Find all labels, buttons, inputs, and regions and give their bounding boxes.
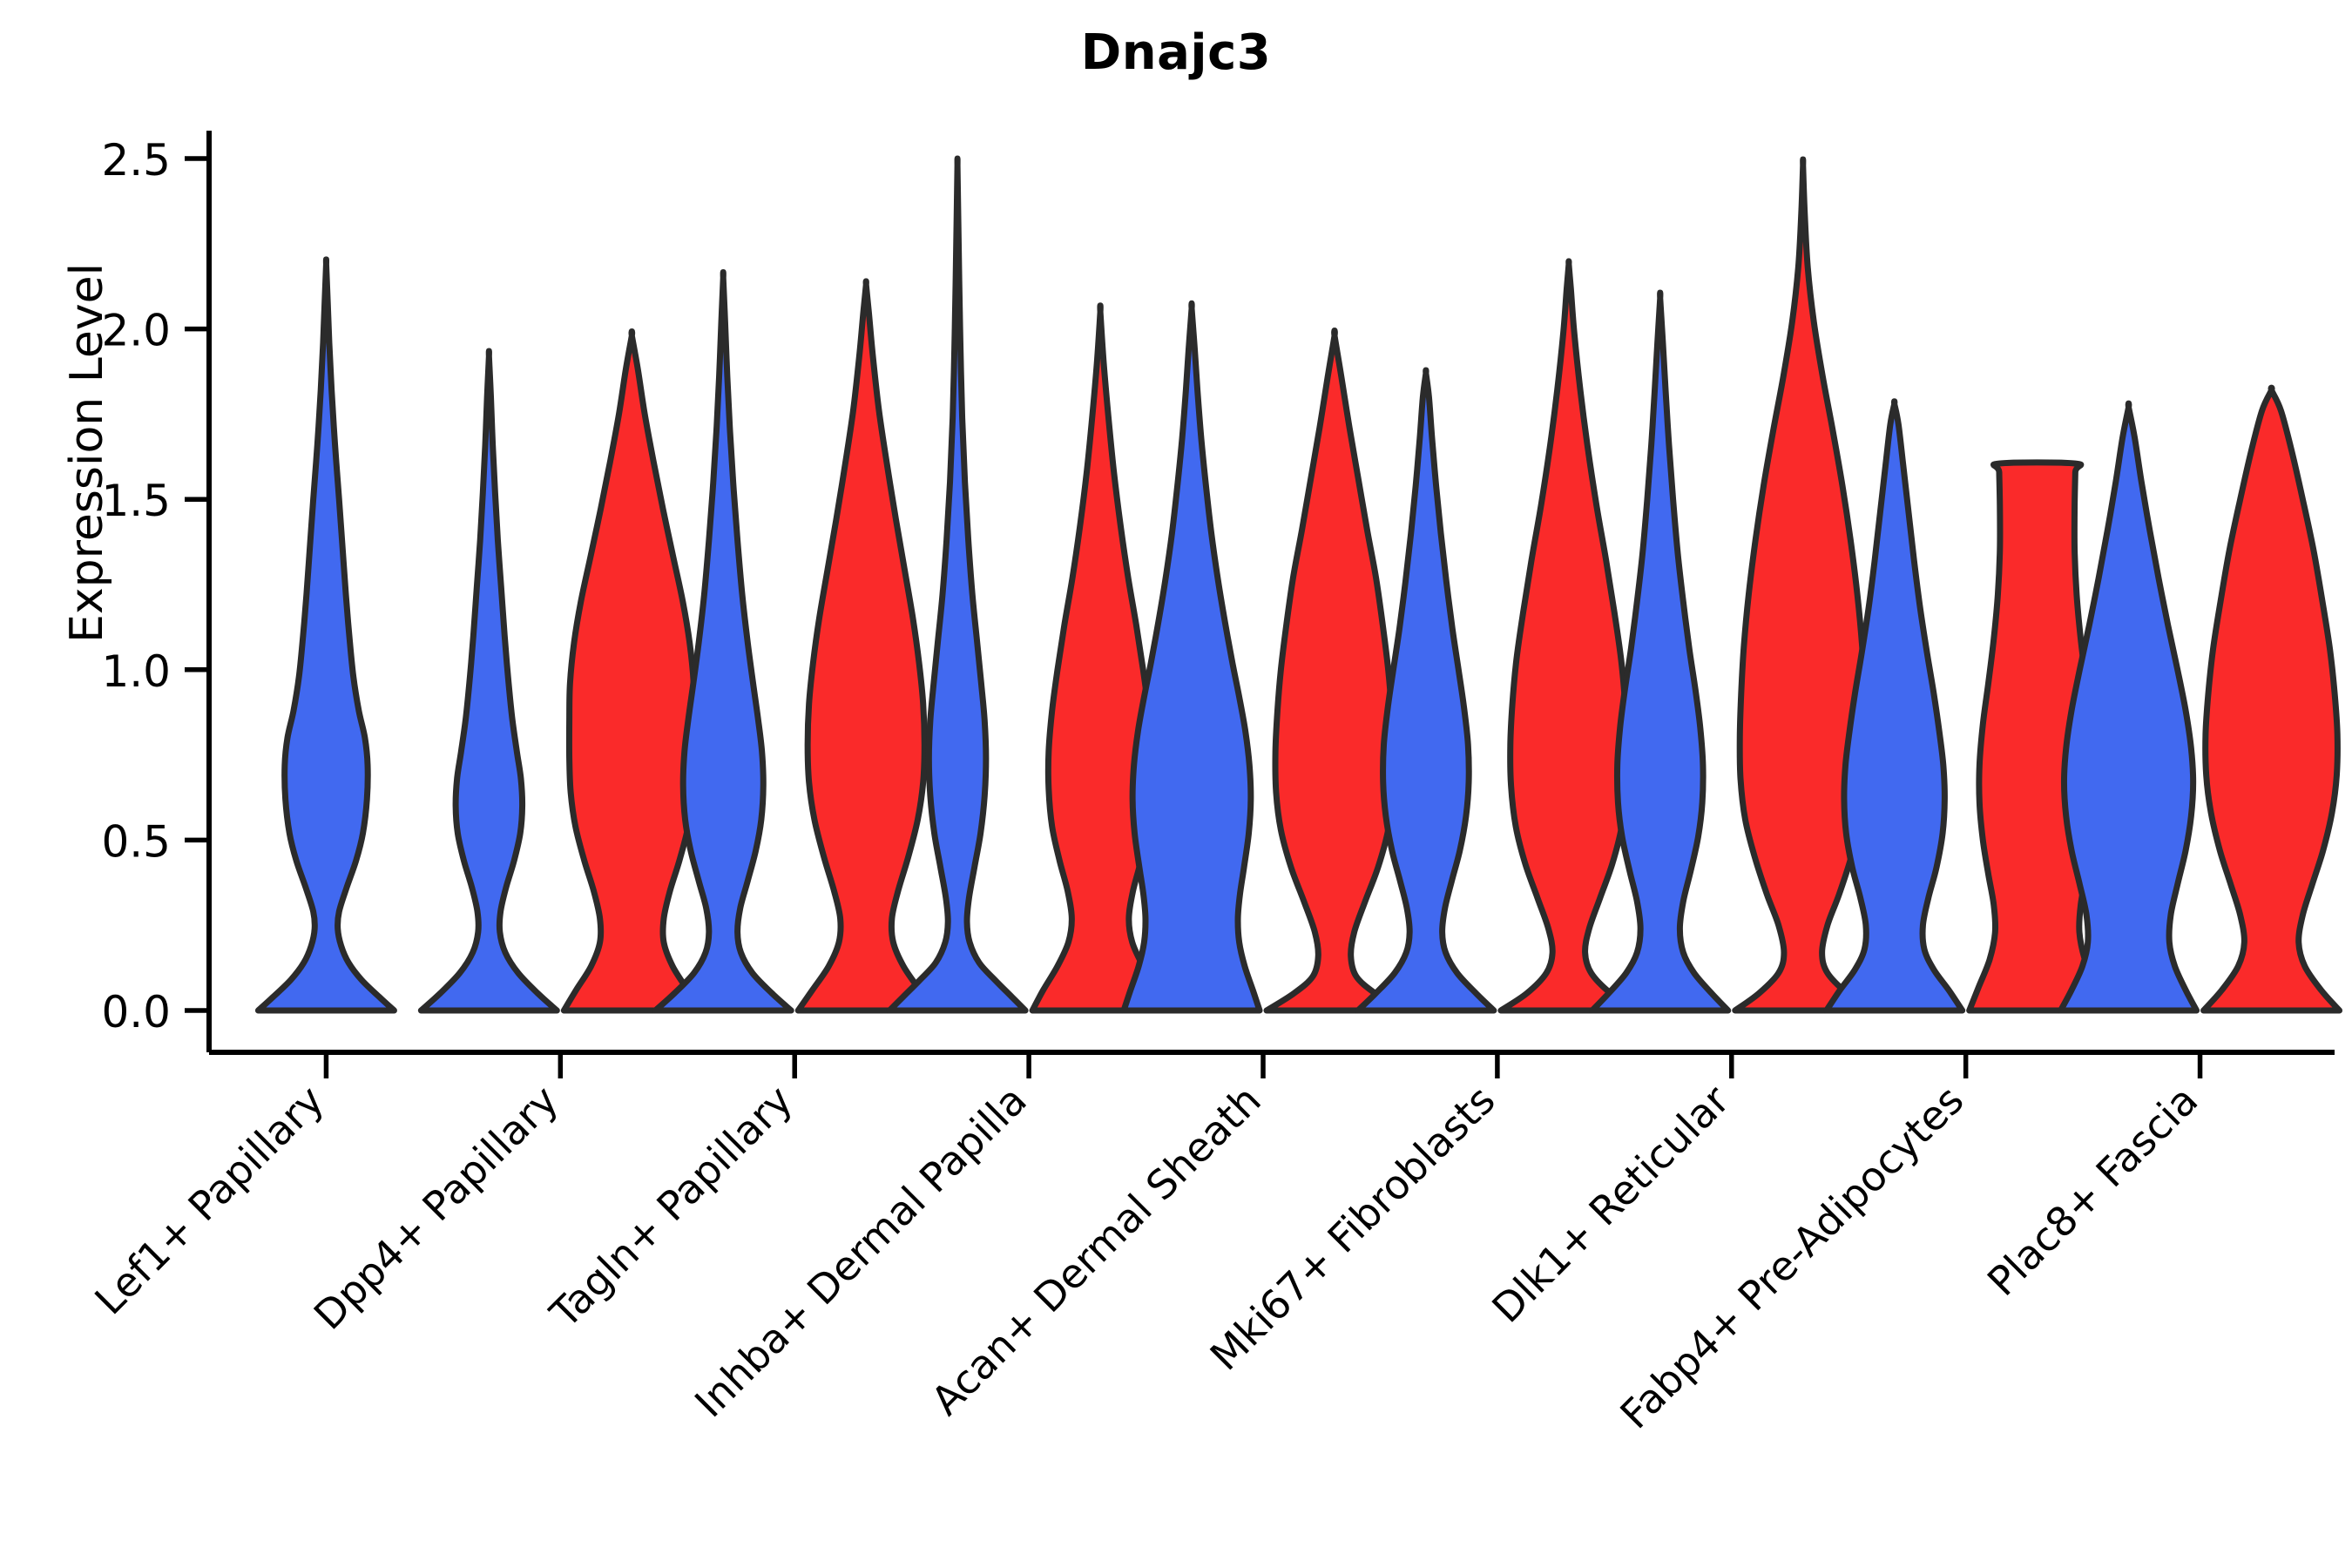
x-tick-label-plac8-fascia: Plac8+ Fascia: [1978, 1077, 2207, 1305]
y-tick-label: 2.0: [101, 306, 171, 356]
violin-group-fabp4-pre-adipocytes: [1827, 402, 2105, 1010]
y-tick-label: 0.0: [101, 987, 171, 1037]
violin-red: [1735, 159, 1871, 1010]
violin-group-acan-dermal-sheath: [1124, 303, 1402, 1010]
violin-group-mki67-fibroblasts: [1358, 261, 1637, 1010]
violin-red: [2204, 388, 2340, 1010]
violin-group-dlk1-reticular: [1592, 159, 1871, 1010]
x-tick-label-dpp4-papillary: Dpp4+ Papillary: [305, 1077, 567, 1339]
y-tick-label: 2.5: [101, 135, 171, 186]
violin-group-plac8-fascia: [2061, 388, 2340, 1010]
x-tick-label-lef1-papillary: Lef1+ Papillary: [85, 1077, 333, 1324]
y-tick-label: 1.0: [101, 646, 171, 697]
violin-red: [798, 281, 934, 1010]
violin-group-lef1-papillary: [258, 260, 394, 1010]
violins-layer: [258, 159, 2339, 1010]
y-tick-label: 0.5: [101, 816, 171, 867]
violin-red: [1267, 331, 1402, 1010]
violin-group-inhba-dermal-papilla: [889, 159, 1168, 1010]
violin-blue: [421, 351, 557, 1010]
violin-group-tagln-papillary: [655, 273, 934, 1010]
violin-red: [1501, 261, 1637, 1010]
violin-blue: [258, 260, 394, 1010]
x-tick-label-dlk1-reticular: Dlk1+ Reticular: [1483, 1077, 1738, 1332]
y-tick-label: 1.5: [101, 476, 171, 526]
x-tick-label-tagln-papillary: Tagln+ Papillary: [540, 1077, 801, 1338]
violin-group-dpp4-papillary: [421, 332, 700, 1010]
violin-plot-figure: Dnajc3 Expression Level 0.00.51.01.52.02…: [0, 0, 2352, 1568]
violin-red: [564, 332, 700, 1010]
chart-canvas: 0.00.51.01.52.02.5Lef1+ PapillaryDpp4+ P…: [0, 0, 2352, 1568]
